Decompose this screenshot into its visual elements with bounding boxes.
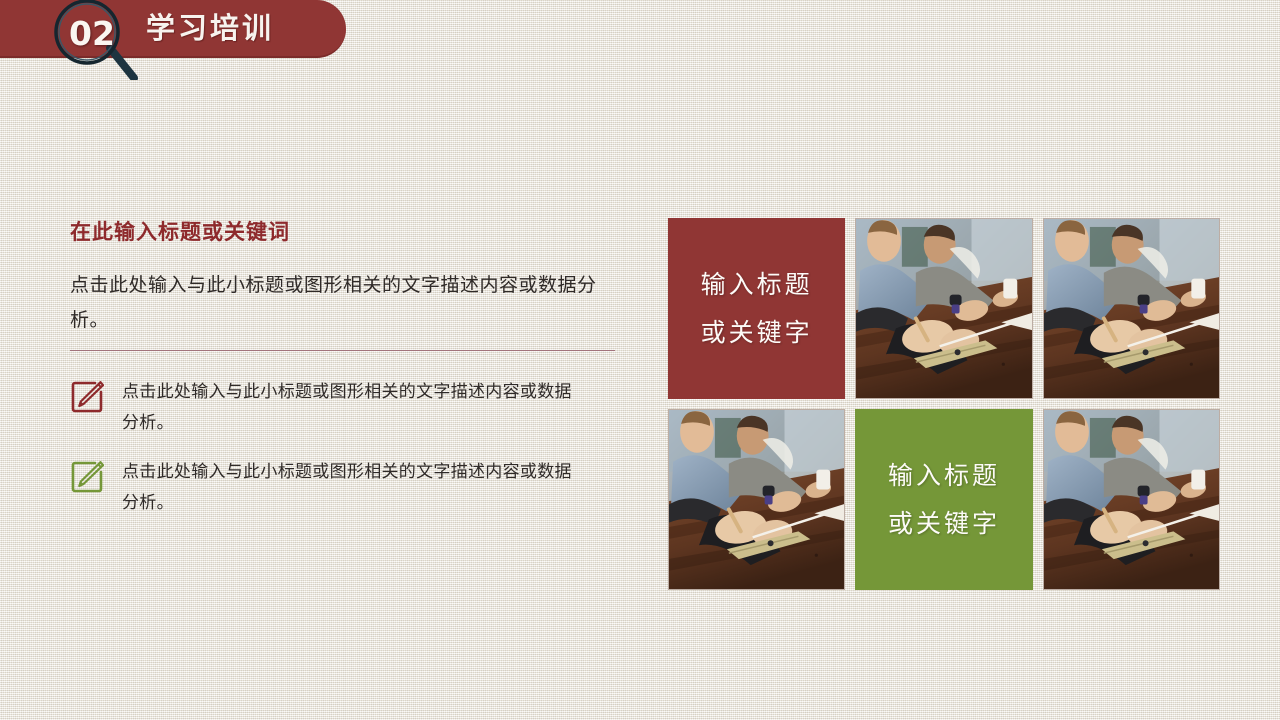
content-heading: 在此输入标题或关键词 [70, 218, 618, 246]
list-item[interactable]: 点击此处输入与此小标题或图形相关的文字描述内容或数据分析。 [70, 457, 618, 519]
edit-pencil-icon [70, 380, 104, 414]
caption-tile-green[interactable]: 输入标题 或关键字 [855, 409, 1032, 590]
caption-line-1: 输入标题 [888, 452, 1000, 500]
meeting-photo [669, 410, 844, 589]
caption-line-2: 或关键字 [888, 500, 1000, 548]
photo-tile[interactable] [1043, 409, 1220, 590]
photo-tile[interactable] [668, 409, 845, 590]
meeting-photo [856, 219, 1031, 398]
bullet-list: 点击此处输入与此小标题或图形相关的文字描述内容或数据分析。 点击此处输入与此小标… [70, 377, 618, 519]
edit-pencil-icon [70, 460, 104, 494]
magnifier-icon: 02 [48, 0, 158, 80]
photo-tile[interactable] [855, 218, 1032, 399]
list-item-text: 点击此处输入与此小标题或图形相关的文字描述内容或数据分析。 [122, 457, 572, 519]
caption-line-2: 或关键字 [701, 309, 813, 357]
list-item[interactable]: 点击此处输入与此小标题或图形相关的文字描述内容或数据分析。 [70, 377, 618, 439]
list-item-text: 点击此处输入与此小标题或图形相关的文字描述内容或数据分析。 [122, 377, 572, 439]
left-content-column: 在此输入标题或关键词 点击此处输入与此小标题或图形相关的文字描述内容或数据分析。… [70, 218, 618, 537]
photo-tile[interactable] [1043, 218, 1220, 399]
slide-canvas: 学习培训 02 在此输入标题或关键词 点击此处输入与此小标题或图形相关的文字描述… [0, 0, 1280, 720]
content-body-text: 点击此处输入与此小标题或图形相关的文字描述内容或数据分析。 [70, 268, 618, 338]
horizontal-divider [70, 350, 615, 351]
section-number: 02 [48, 0, 126, 72]
section-title: 学习培训 [146, 6, 274, 50]
section-header-banner: 学习培训 02 [0, 0, 346, 60]
caption-line-1: 输入标题 [701, 261, 813, 309]
meeting-photo [1044, 219, 1219, 398]
meeting-photo [1044, 410, 1219, 589]
photo-tile-grid: 输入标题 或关键字 [668, 218, 1220, 590]
caption-tile-red[interactable]: 输入标题 或关键字 [668, 218, 845, 399]
